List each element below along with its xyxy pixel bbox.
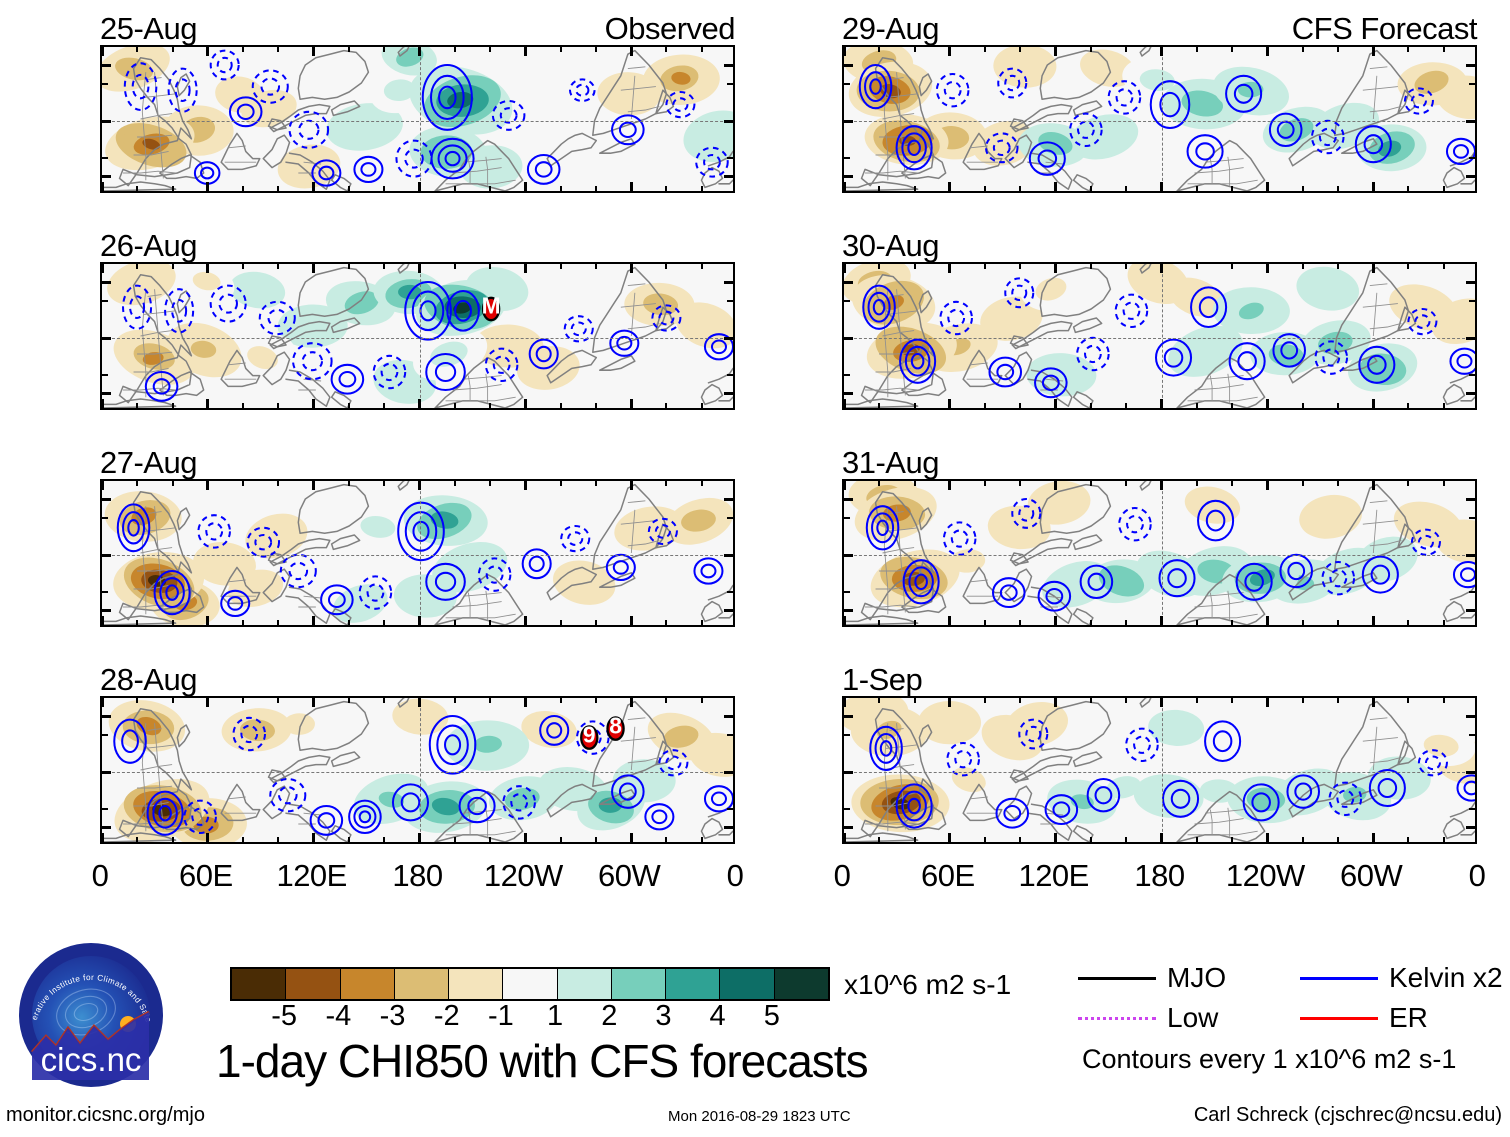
x-axis-tick	[843, 698, 846, 707]
y-axis-minor-tick	[102, 157, 108, 159]
x-axis-minor-tick	[1407, 47, 1409, 52]
x-axis-minor-tick	[1407, 186, 1409, 191]
y-axis-tick	[724, 281, 733, 284]
y-axis-minor-tick	[844, 374, 850, 376]
x-axis-tick-label: 180	[392, 858, 442, 894]
x-axis-minor-tick	[348, 186, 350, 191]
svg-text:M: M	[482, 292, 501, 318]
x-axis-minor-tick	[1125, 186, 1127, 191]
x-axis-minor-tick	[701, 186, 703, 191]
x-axis-tick	[630, 182, 633, 191]
x-axis-minor-tick	[136, 698, 138, 703]
x-axis-minor-tick	[136, 47, 138, 52]
x-axis-minor-tick	[277, 403, 279, 408]
legend-item-er: ER	[1300, 1002, 1428, 1034]
x-axis-minor-tick	[878, 186, 880, 191]
x-axis-minor-tick	[489, 186, 491, 191]
equator-line	[844, 555, 1475, 556]
x-axis-minor-tick	[560, 481, 562, 486]
x-axis-minor-tick	[1196, 264, 1198, 269]
x-axis-tick	[630, 399, 633, 408]
x-axis-minor-tick	[136, 403, 138, 408]
y-axis-tick	[844, 392, 853, 395]
footer-url[interactable]: monitor.cicsnc.org/mjo	[6, 1104, 205, 1127]
x-axis-tick	[1266, 264, 1269, 273]
x-axis-minor-tick	[1196, 837, 1198, 842]
y-axis-tick	[102, 281, 111, 284]
y-axis-tick	[844, 281, 853, 284]
footer-author: Carl Schreck (cjschrec@ncsu.edu)	[1194, 1104, 1502, 1127]
x-axis-minor-tick	[1337, 698, 1339, 703]
x-axis-minor-tick	[595, 698, 597, 703]
y-axis-minor-tick	[727, 374, 733, 376]
x-axis-tick	[101, 616, 104, 625]
y-axis-tick	[102, 64, 111, 67]
x-axis-minor-tick	[1443, 403, 1445, 408]
x-axis-minor-tick	[665, 620, 667, 625]
x-axis-minor-tick	[1090, 698, 1092, 703]
x-axis-minor-tick	[1196, 620, 1198, 625]
x-axis-tick	[948, 616, 951, 625]
x-axis-minor-tick	[172, 698, 174, 703]
x-axis-minor-tick	[984, 481, 986, 486]
x-axis-minor-tick	[701, 698, 703, 703]
x-axis-minor-tick	[1196, 481, 1198, 486]
x-axis-tick	[312, 698, 315, 707]
legend-item-kelvin-x2: Kelvin x2	[1300, 962, 1503, 994]
x-axis-minor-tick	[1196, 403, 1198, 408]
x-axis-tick	[1054, 182, 1057, 191]
x-axis-minor-tick	[242, 837, 244, 842]
x-axis-tick-label: 120E	[1018, 858, 1088, 894]
x-axis-minor-tick	[1302, 403, 1304, 408]
x-axis-tick	[1266, 399, 1269, 408]
x-axis-minor-tick	[560, 264, 562, 269]
colorbar-tick-label: 3	[655, 1000, 671, 1033]
y-axis-minor-tick	[727, 300, 733, 302]
x-axis-minor-tick	[242, 403, 244, 408]
x-axis-tick	[101, 399, 104, 408]
x-axis-tick	[524, 481, 527, 490]
x-axis-minor-tick	[1231, 264, 1233, 269]
x-axis-minor-tick	[1125, 403, 1127, 408]
x-axis-tick-label: 120W	[484, 858, 563, 894]
x-axis-minor-tick	[1196, 186, 1198, 191]
x-axis-tick	[630, 616, 633, 625]
y-axis-tick	[844, 175, 853, 178]
x-axis-minor-tick	[383, 186, 385, 191]
x-axis-tick-label: 60W	[1340, 858, 1402, 894]
x-axis-minor-tick	[172, 620, 174, 625]
svg-text:8: 8	[609, 712, 622, 738]
x-axis-tick	[843, 264, 846, 273]
y-axis-minor-tick	[1469, 83, 1475, 85]
x-axis-minor-tick	[1090, 837, 1092, 842]
x-axis-tick	[206, 47, 209, 56]
y-axis-minor-tick	[727, 517, 733, 519]
colorbar-tick-label: -3	[380, 1000, 406, 1033]
x-axis-minor-tick	[1090, 47, 1092, 52]
x-axis-minor-tick	[383, 620, 385, 625]
x-axis-tick	[630, 833, 633, 842]
panel-p4: 28-Aug9830N030S060E120E180120W60W0	[100, 696, 735, 844]
x-axis-minor-tick	[984, 620, 986, 625]
x-axis-minor-tick	[560, 837, 562, 842]
contour-interval-note: Contours every 1 x10^6 m2 s-1	[1082, 1044, 1456, 1075]
y-axis-minor-tick	[727, 808, 733, 810]
x-axis-tick	[418, 47, 421, 56]
column-header-label: Observed	[605, 11, 735, 47]
panel-date-label: 30-Aug	[842, 228, 939, 264]
x-axis-minor-tick	[1407, 481, 1409, 486]
dateline-marker	[1162, 264, 1163, 408]
x-axis-minor-tick	[348, 481, 350, 486]
x-axis-minor-tick	[1125, 837, 1127, 842]
x-axis-minor-tick	[1443, 481, 1445, 486]
y-axis-tick	[724, 609, 733, 612]
x-axis-tick	[1054, 698, 1057, 707]
x-axis-tick	[948, 182, 951, 191]
y-axis-tick	[724, 120, 733, 123]
x-axis-minor-tick	[1231, 186, 1233, 191]
x-axis-tick	[948, 399, 951, 408]
x-axis-minor-tick	[172, 837, 174, 842]
y-axis-minor-tick	[844, 157, 850, 159]
svg-text:9: 9	[583, 721, 596, 747]
colorbar-cell	[557, 969, 611, 999]
x-axis-minor-tick	[701, 620, 703, 625]
x-axis-minor-tick	[489, 264, 491, 269]
x-axis-minor-tick	[595, 47, 597, 52]
x-axis-minor-tick	[560, 698, 562, 703]
colorbar	[230, 967, 830, 1001]
x-axis-minor-tick	[665, 264, 667, 269]
x-axis-tick	[1372, 698, 1375, 707]
y-axis-tick	[724, 337, 733, 340]
x-axis-tick	[418, 264, 421, 273]
x-axis-tick	[312, 616, 315, 625]
x-axis-tick	[1266, 47, 1269, 56]
x-axis-minor-tick	[1302, 264, 1304, 269]
x-axis-minor-tick	[383, 698, 385, 703]
x-axis-tick	[843, 616, 846, 625]
x-axis-tick	[312, 481, 315, 490]
x-axis-minor-tick	[454, 698, 456, 703]
x-axis-tick	[1160, 182, 1163, 191]
x-axis-minor-tick	[136, 481, 138, 486]
x-axis-minor-tick	[489, 620, 491, 625]
x-axis-tick	[948, 47, 951, 56]
y-axis-minor-tick	[844, 808, 850, 810]
x-axis-minor-tick	[277, 47, 279, 52]
x-axis-minor-tick	[136, 837, 138, 842]
colorbar-cell	[448, 969, 502, 999]
y-axis-tick	[844, 64, 853, 67]
x-axis-minor-tick	[665, 698, 667, 703]
y-axis-tick	[1466, 337, 1475, 340]
x-axis-minor-tick	[914, 186, 916, 191]
x-axis-minor-tick	[277, 264, 279, 269]
x-axis-minor-tick	[136, 620, 138, 625]
x-axis-minor-tick	[348, 403, 350, 408]
x-axis-minor-tick	[489, 403, 491, 408]
x-axis-minor-tick	[454, 403, 456, 408]
x-axis-minor-tick	[665, 186, 667, 191]
footer-timestamp: Mon 2016-08-29 1823 UTC	[668, 1108, 851, 1125]
figure-title: 1-day CHI850 with CFS forecasts	[216, 1034, 868, 1088]
x-axis-minor-tick	[383, 837, 385, 842]
map-area	[842, 479, 1477, 627]
x-axis-minor-tick	[1443, 620, 1445, 625]
x-axis-minor-tick	[665, 837, 667, 842]
colorbar-tick-label: 1	[547, 1000, 563, 1033]
colorbar-cell	[665, 969, 719, 999]
y-axis-minor-tick	[102, 808, 108, 810]
x-axis-tick-label: 0	[834, 858, 851, 894]
x-axis-minor-tick	[489, 481, 491, 486]
map-area: 30N030S	[100, 479, 735, 627]
x-axis-tick	[948, 833, 951, 842]
x-axis-tick	[1160, 47, 1163, 56]
x-axis-minor-tick	[1019, 698, 1021, 703]
equator-line	[102, 121, 733, 122]
colorbar-cell	[719, 969, 773, 999]
x-axis-minor-tick	[489, 47, 491, 52]
x-axis-minor-tick	[914, 403, 916, 408]
x-axis-tick	[312, 833, 315, 842]
x-axis-minor-tick	[560, 47, 562, 52]
x-axis-minor-tick	[172, 403, 174, 408]
x-axis-minor-tick	[172, 47, 174, 52]
x-axis-minor-tick	[1090, 620, 1092, 625]
x-axis-minor-tick	[1196, 47, 1198, 52]
x-axis-minor-tick	[665, 403, 667, 408]
x-axis-tick	[948, 481, 951, 490]
x-axis-minor-tick	[1337, 481, 1339, 486]
x-axis-minor-tick	[878, 481, 880, 486]
y-axis-minor-tick	[1469, 517, 1475, 519]
y-axis-tick	[844, 554, 853, 557]
wave-legend: MJOKelvin x2LowER	[1078, 962, 1508, 1042]
x-axis-minor-tick	[1302, 481, 1304, 486]
x-axis-tick	[1372, 399, 1375, 408]
x-axis-minor-tick	[984, 186, 986, 191]
x-axis-minor-tick	[1090, 186, 1092, 191]
map-area	[842, 696, 1477, 844]
x-axis-tick	[524, 399, 527, 408]
x-axis-minor-tick	[1407, 837, 1409, 842]
dateline-marker	[1162, 47, 1163, 191]
dateline-marker	[420, 47, 421, 191]
x-axis-tick-label: 0	[1469, 858, 1486, 894]
x-axis-tick	[101, 481, 104, 490]
x-axis-minor-tick	[1443, 47, 1445, 52]
x-axis-minor-tick	[914, 837, 916, 842]
x-axis-minor-tick	[1337, 264, 1339, 269]
x-axis-tick	[1372, 481, 1375, 490]
x-axis-minor-tick	[383, 264, 385, 269]
x-axis-tick	[1054, 399, 1057, 408]
y-axis-tick	[1466, 771, 1475, 774]
x-axis-minor-tick	[277, 186, 279, 191]
y-axis-tick	[102, 337, 111, 340]
legend-swatch-line	[1078, 1017, 1156, 1020]
colorbar-cell	[611, 969, 665, 999]
x-axis-minor-tick	[277, 481, 279, 486]
equator-line	[844, 121, 1475, 122]
y-axis-tick	[1466, 609, 1475, 612]
x-axis-minor-tick	[1125, 620, 1127, 625]
x-axis-tick	[524, 182, 527, 191]
x-axis-tick	[524, 264, 527, 273]
legend-swatch-line	[1078, 977, 1156, 980]
x-axis-minor-tick	[1019, 186, 1021, 191]
x-axis-minor-tick	[665, 47, 667, 52]
x-axis-minor-tick	[1302, 620, 1304, 625]
x-axis-tick	[206, 698, 209, 707]
x-axis-minor-tick	[454, 481, 456, 486]
panel-p8: 1-Sep060E120E180120W60W0	[842, 696, 1477, 844]
x-axis-minor-tick	[1231, 698, 1233, 703]
x-axis-minor-tick	[1443, 837, 1445, 842]
map-area	[842, 45, 1477, 193]
storm-marker: M	[482, 292, 501, 320]
y-axis-tick	[844, 120, 853, 123]
colorbar-tick-label: -5	[271, 1000, 297, 1033]
x-axis-minor-tick	[454, 47, 456, 52]
x-axis-tick	[1266, 182, 1269, 191]
y-axis-tick	[1466, 392, 1475, 395]
x-axis-tick-label: 0	[92, 858, 109, 894]
y-axis-tick	[102, 175, 111, 178]
panel-p1: 25-AugObserved30N030S	[100, 45, 735, 193]
x-axis-minor-tick	[1443, 186, 1445, 191]
x-axis-minor-tick	[984, 837, 986, 842]
y-axis-tick	[724, 715, 733, 718]
y-axis-tick	[102, 609, 111, 612]
y-axis-tick	[724, 498, 733, 501]
x-axis-minor-tick	[1231, 481, 1233, 486]
x-axis-minor-tick	[701, 837, 703, 842]
x-axis-tick	[206, 399, 209, 408]
x-axis-minor-tick	[560, 186, 562, 191]
x-axis-minor-tick	[489, 698, 491, 703]
x-axis-tick	[1266, 481, 1269, 490]
x-axis-minor-tick	[595, 403, 597, 408]
dateline-marker	[420, 264, 421, 408]
x-axis-minor-tick	[701, 47, 703, 52]
panel-p6: 30-Aug	[842, 262, 1477, 410]
legend-label: MJO	[1167, 962, 1226, 994]
colorbar-tick-label: 5	[764, 1000, 780, 1033]
x-axis-minor-tick	[1443, 698, 1445, 703]
x-axis-minor-tick	[277, 698, 279, 703]
x-axis-tick	[1266, 698, 1269, 707]
x-axis-minor-tick	[1196, 698, 1198, 703]
x-axis-minor-tick	[560, 620, 562, 625]
y-axis-minor-tick	[727, 157, 733, 159]
y-axis-tick	[102, 498, 111, 501]
x-axis-minor-tick	[914, 620, 916, 625]
legend-swatch-line	[1300, 977, 1378, 980]
x-axis-minor-tick	[878, 698, 880, 703]
x-axis-tick	[524, 616, 527, 625]
legend-label: Low	[1167, 1002, 1218, 1034]
y-axis-tick	[724, 826, 733, 829]
x-axis-tick	[1372, 616, 1375, 625]
x-axis-tick	[1372, 833, 1375, 842]
x-axis-tick-label: 180	[1134, 858, 1184, 894]
x-axis-tick	[1054, 264, 1057, 273]
x-axis-tick	[101, 47, 104, 56]
x-axis-minor-tick	[383, 403, 385, 408]
x-axis-minor-tick	[878, 264, 880, 269]
x-axis-labels: 060E120E180120W60W0	[842, 858, 1477, 898]
y-axis-minor-tick	[844, 83, 850, 85]
x-axis-minor-tick	[1337, 47, 1339, 52]
y-axis-minor-tick	[844, 300, 850, 302]
y-axis-tick	[844, 609, 853, 612]
x-axis-tick	[418, 399, 421, 408]
colorbar-cell	[340, 969, 394, 999]
y-axis-tick	[1466, 120, 1475, 123]
colorbar-cell	[502, 969, 556, 999]
x-axis-minor-tick	[136, 264, 138, 269]
x-axis-tick	[312, 264, 315, 273]
anomaly-shading	[103, 488, 733, 625]
y-axis-tick	[724, 64, 733, 67]
x-axis-minor-tick	[1019, 403, 1021, 408]
x-axis-minor-tick	[878, 403, 880, 408]
x-axis-minor-tick	[1407, 264, 1409, 269]
x-axis-minor-tick	[560, 403, 562, 408]
x-axis-minor-tick	[878, 837, 880, 842]
colorbar-units-label: x10^6 m2 s-1	[844, 969, 1011, 1001]
x-axis-tick	[1054, 47, 1057, 56]
x-axis-minor-tick	[1019, 47, 1021, 52]
x-axis-tick-label: 120W	[1226, 858, 1305, 894]
x-axis-tick	[1372, 47, 1375, 56]
x-axis-minor-tick	[1231, 47, 1233, 52]
dateline-marker	[1162, 481, 1163, 625]
legend-item-low: Low	[1078, 1002, 1218, 1034]
x-axis-tick	[312, 399, 315, 408]
x-axis-tick	[1160, 698, 1163, 707]
colorbar-tick-label: -2	[434, 1000, 460, 1033]
x-axis-minor-tick	[1231, 403, 1233, 408]
equator-line	[844, 772, 1475, 773]
x-axis-minor-tick	[1407, 698, 1409, 703]
x-axis-tick	[1160, 264, 1163, 273]
panel-p2: 26-AugM30N030S	[100, 262, 735, 410]
x-axis-minor-tick	[984, 264, 986, 269]
x-axis-tick	[630, 698, 633, 707]
x-axis-minor-tick	[984, 698, 986, 703]
y-axis-tick	[1466, 64, 1475, 67]
y-axis-minor-tick	[1469, 374, 1475, 376]
y-axis-tick	[724, 554, 733, 557]
x-axis-minor-tick	[172, 481, 174, 486]
x-axis-minor-tick	[242, 47, 244, 52]
column-header-label: CFS Forecast	[1292, 11, 1477, 47]
x-axis-minor-tick	[984, 403, 986, 408]
equator-line	[844, 338, 1475, 339]
x-axis-minor-tick	[1302, 47, 1304, 52]
legend-swatch-line	[1300, 1017, 1378, 1020]
x-axis-tick	[1054, 616, 1057, 625]
x-axis-tick	[1160, 399, 1163, 408]
x-axis-minor-tick	[348, 620, 350, 625]
